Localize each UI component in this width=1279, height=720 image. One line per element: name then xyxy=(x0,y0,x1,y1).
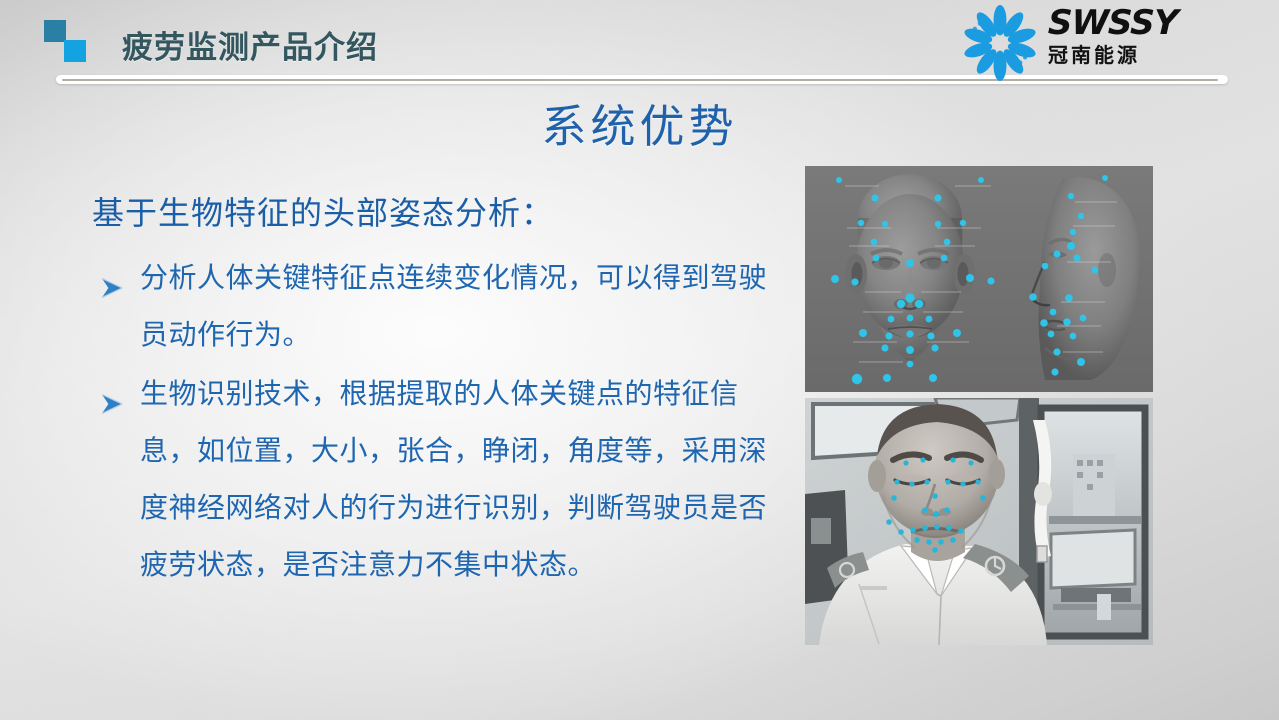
bullet-list: 分析人体关键特征点连续变化情况，可以得到驾驶员动作行为。 生物识别技术，根据提取… xyxy=(92,249,782,593)
arrow-bullet-icon xyxy=(100,263,126,289)
header-divider xyxy=(56,75,1228,84)
square-light-icon xyxy=(64,40,86,62)
driver-fatigue-detection-image xyxy=(805,398,1153,645)
body-lead-text: 基于生物特征的头部姿态分析： xyxy=(92,193,782,233)
company-logo: SWSSY 冠南能源 xyxy=(962,4,1222,76)
logo-wordmark: SWSSY xyxy=(1047,6,1218,40)
list-item-text: 生物识别技术，根据提取的人体关键点的特征信息，如位置，大小，张合，睁闭，角度等，… xyxy=(140,377,767,581)
list-item: 分析人体关键特征点连续变化情况，可以得到驾驶员动作行为。 xyxy=(92,249,782,363)
body-content: 基于生物特征的头部姿态分析： 分析人体关键特征点连续变化情况，可以得到驾驶员动作… xyxy=(92,193,782,595)
logo-subtitle: 冠南能源 xyxy=(1048,44,1218,66)
logo-text-block: SWSSY 冠南能源 xyxy=(1048,6,1218,66)
list-item: 生物识别技术，根据提取的人体关键点的特征信息，如位置，大小，张合，睁闭，角度等，… xyxy=(92,365,782,593)
list-item-text: 分析人体关键特征点连续变化情况，可以得到驾驶员动作行为。 xyxy=(140,261,767,351)
face-landmark-model-image xyxy=(805,166,1153,392)
petal-flower-logo-icon xyxy=(962,5,1038,75)
presentation-slide: 疲劳监测产品介绍 xyxy=(0,0,1279,720)
header-title: 疲劳监测产品介绍 xyxy=(122,22,378,67)
slide-title: 系统优势 xyxy=(0,90,1279,155)
square-dark-icon xyxy=(44,20,66,42)
arrow-bullet-icon xyxy=(100,379,126,405)
header-decoration-squares xyxy=(44,20,106,66)
